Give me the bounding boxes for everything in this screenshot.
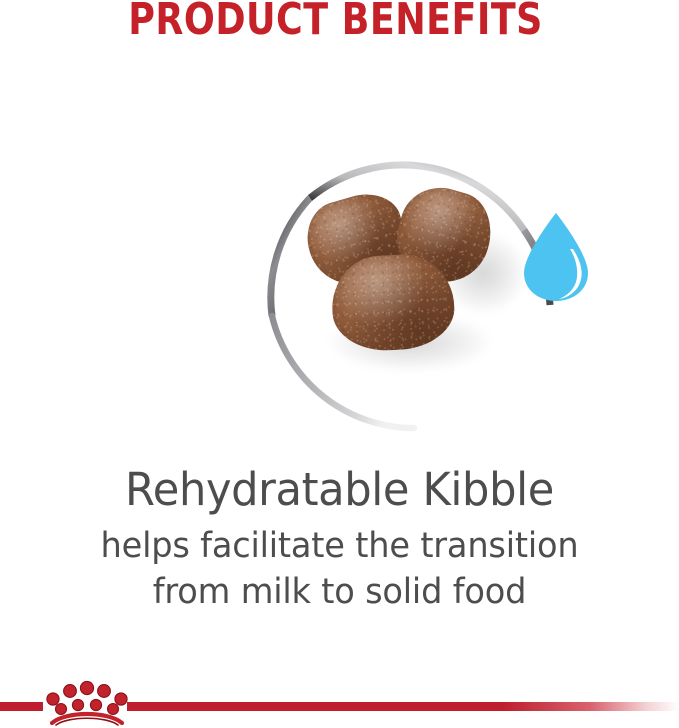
- footer-rule-right: [127, 702, 679, 711]
- page-title: PRODUCT BENEFITS: [32, 0, 657, 46]
- benefit-subline-2: from milk to solid food: [14, 570, 666, 614]
- water-droplet-icon: [516, 205, 596, 305]
- benefit-subline-1: helps facilitate the transition: [14, 524, 666, 568]
- kibble-cluster: [300, 185, 510, 385]
- benefit-text-block: Rehydratable Kibble helps facilitate the…: [0, 462, 679, 614]
- footer-bar: [0, 676, 679, 728]
- benefit-headline: Rehydratable Kibble: [14, 462, 666, 518]
- benefit-illustration: [0, 80, 679, 460]
- footer-rule-left: [0, 702, 43, 711]
- royal-canin-crown-icon: [44, 678, 130, 726]
